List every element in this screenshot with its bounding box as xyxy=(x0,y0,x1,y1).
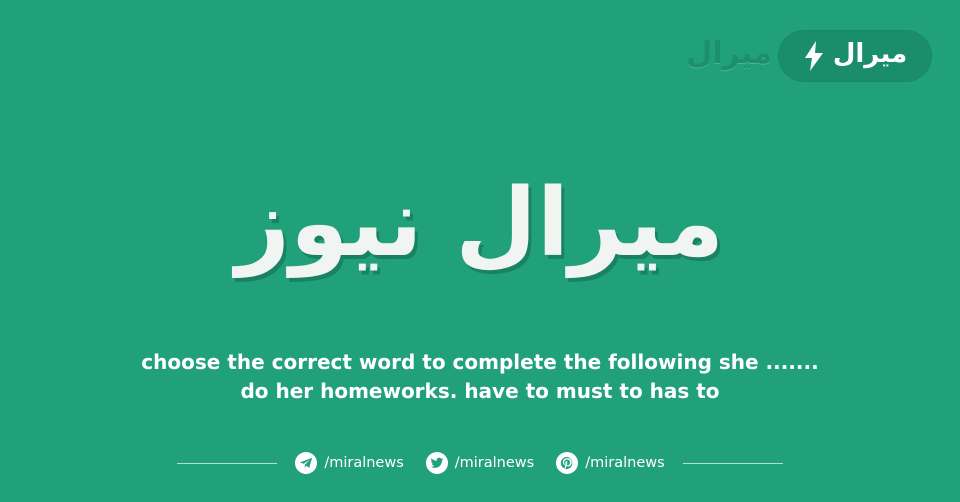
pinterest-icon xyxy=(556,452,578,474)
social-link-telegram[interactable]: /miralnews xyxy=(295,452,403,474)
twitter-icon xyxy=(426,452,448,474)
telegram-icon xyxy=(295,452,317,474)
social-handle-twitter: /miralnews xyxy=(455,455,534,471)
bolt-icon xyxy=(803,41,825,71)
question-text: choose the correct word to complete the … xyxy=(140,348,820,406)
divider-left xyxy=(177,463,277,464)
brand-logo[interactable]: ميرال ميرال xyxy=(686,30,932,82)
brand-logo-side-text: ميرال xyxy=(686,39,772,73)
news-card: ميرال ميرال ميرال نيوز choose the correc… xyxy=(0,0,960,502)
social-links: /miralnews /miralnews /miralnews xyxy=(277,452,682,474)
footer-social-bar: /miralnews /miralnews /miralnews xyxy=(0,452,960,474)
social-handle-pinterest: /miralnews xyxy=(585,455,664,471)
social-link-twitter[interactable]: /miralnews xyxy=(426,452,534,474)
brand-logo-badge-text: ميرال xyxy=(833,41,907,71)
page-title: ميرال نيوز xyxy=(0,168,960,281)
social-link-pinterest[interactable]: /miralnews xyxy=(556,452,664,474)
social-handle-telegram: /miralnews xyxy=(324,455,403,471)
divider-right xyxy=(683,463,783,464)
brand-logo-badge: ميرال xyxy=(778,30,932,82)
